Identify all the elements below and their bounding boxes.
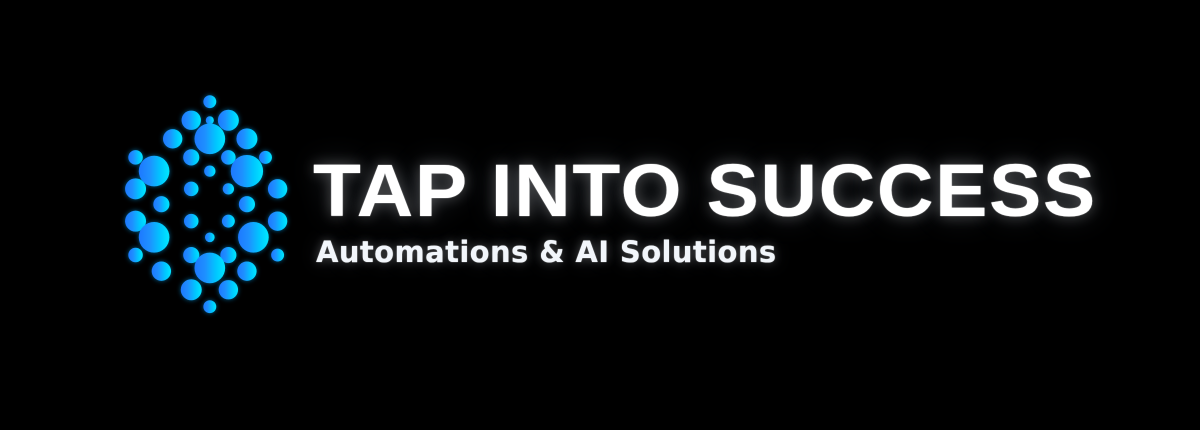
mark-dot [218,110,239,131]
mark-dot [231,155,263,187]
mark-dot [268,211,287,230]
mark-dot [125,178,146,199]
mark-dot [259,151,272,164]
mark-dot [237,262,256,281]
mark-dot [219,280,238,299]
wordmark: TAP INTO SUCCESS Automations & AI Soluti… [313,150,1103,290]
mark-dot [206,116,214,124]
logo-canvas: TAP INTO SUCCESS Automations & AI Soluti… [0,0,1200,430]
mark-dot [153,196,169,212]
mark-dot [238,222,269,253]
mark-dot [139,156,170,187]
mark-dot [152,262,171,281]
mark-dot [139,222,170,253]
mark-dot [163,129,182,148]
mark-dot [223,183,234,194]
mark-dot [204,165,215,176]
mark-dot [182,111,201,130]
mark-dot [181,279,202,300]
mark-dot [205,232,215,242]
brand-title: TAP INTO SUCCESS [313,150,1150,232]
mark-dot [184,182,199,197]
mark-dot [194,123,225,154]
mark-dot [203,300,216,313]
mark-dot [128,248,143,263]
logo-mark [104,92,314,318]
mark-dot [184,214,199,229]
brand-tagline: Automations & AI Solutions [313,232,1103,272]
mark-dot [183,149,199,165]
mark-dot [236,128,257,149]
dot-matrix-icon [104,92,314,318]
mark-dot [203,95,216,108]
dot-group [125,95,287,313]
mark-dot [268,179,287,198]
mark-dot [222,215,235,228]
mark-dot [271,249,284,262]
mark-dot [194,253,225,284]
mark-dot [128,150,143,165]
mark-dot [239,196,255,212]
